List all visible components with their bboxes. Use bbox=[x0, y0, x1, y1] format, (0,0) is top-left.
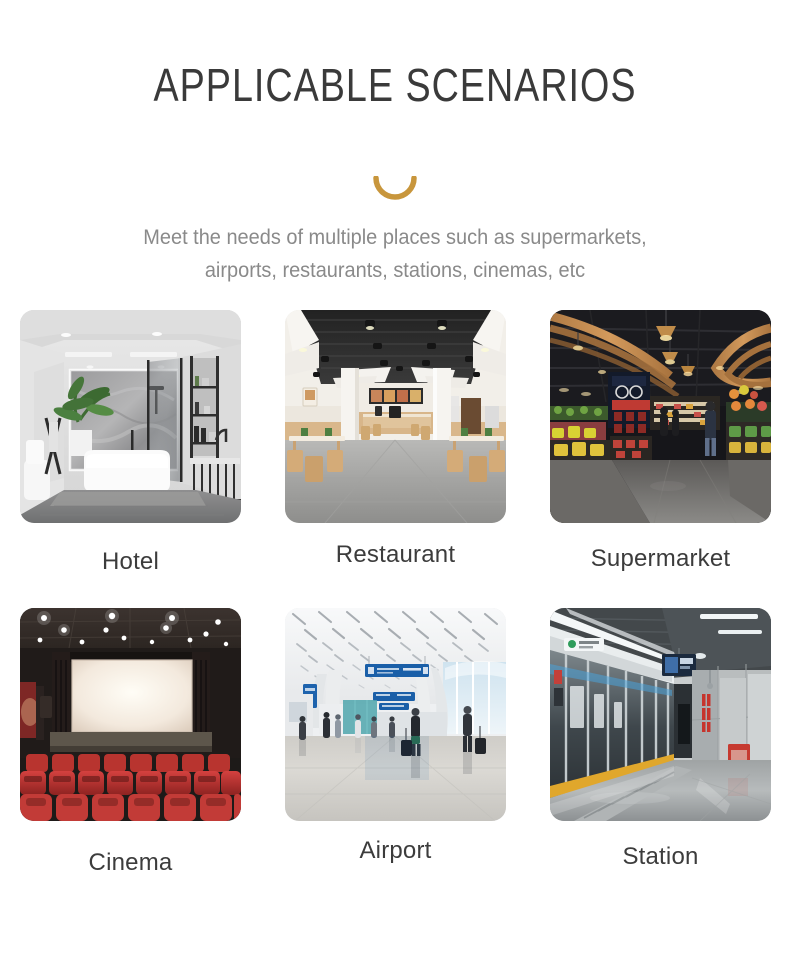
scenario-card-hotel[interactable]: Hotel bbox=[20, 310, 241, 576]
airport-thumbnail[interactable] bbox=[285, 608, 506, 821]
restaurant-thumbnail[interactable] bbox=[285, 310, 506, 523]
scenario-card-airport[interactable]: Airport bbox=[285, 608, 506, 865]
scenario-label-hotel: Hotel bbox=[20, 523, 241, 576]
subtitle-line-2: airports, restaurants, stations, cinemas… bbox=[20, 255, 771, 288]
scenario-grid: Hotel bbox=[0, 310, 790, 906]
scenario-row-2: Cinema bbox=[0, 608, 790, 906]
supermarket-thumbnail[interactable] bbox=[550, 310, 771, 523]
cinema-thumbnail[interactable] bbox=[20, 608, 241, 821]
scenario-card-supermarket[interactable]: Supermarket bbox=[550, 310, 771, 573]
scenario-label-station: Station bbox=[550, 821, 771, 871]
arc-divider-icon bbox=[371, 176, 419, 204]
station-thumbnail[interactable] bbox=[550, 608, 771, 821]
page-title: APPLICABLE SCENARIOS bbox=[71, 60, 719, 111]
scenario-label-cinema: Cinema bbox=[20, 821, 241, 877]
scenario-label-supermarket: Supermarket bbox=[550, 523, 771, 573]
cinema-auditorium-photo bbox=[20, 608, 241, 821]
page-subtitle: Meet the needs of multiple places such a… bbox=[20, 222, 771, 287]
airport-terminal-photo bbox=[285, 608, 506, 821]
scenario-row-1: Hotel bbox=[0, 310, 790, 608]
arc-divider bbox=[0, 176, 790, 204]
hotel-thumbnail[interactable] bbox=[20, 310, 241, 523]
scenario-card-cinema[interactable]: Cinema bbox=[20, 608, 241, 877]
scenario-label-airport: Airport bbox=[285, 821, 506, 865]
scenario-card-restaurant[interactable]: Restaurant bbox=[285, 310, 506, 569]
scenario-label-restaurant: Restaurant bbox=[285, 523, 506, 569]
scenario-card-station[interactable]: Station bbox=[550, 608, 771, 871]
hotel-bathroom-photo bbox=[20, 310, 241, 523]
subtitle-line-1: Meet the needs of multiple places such a… bbox=[20, 222, 771, 255]
restaurant-interior-photo bbox=[285, 310, 506, 523]
subway-station-platform-photo bbox=[550, 608, 771, 821]
supermarket-aisle-photo bbox=[550, 310, 771, 523]
